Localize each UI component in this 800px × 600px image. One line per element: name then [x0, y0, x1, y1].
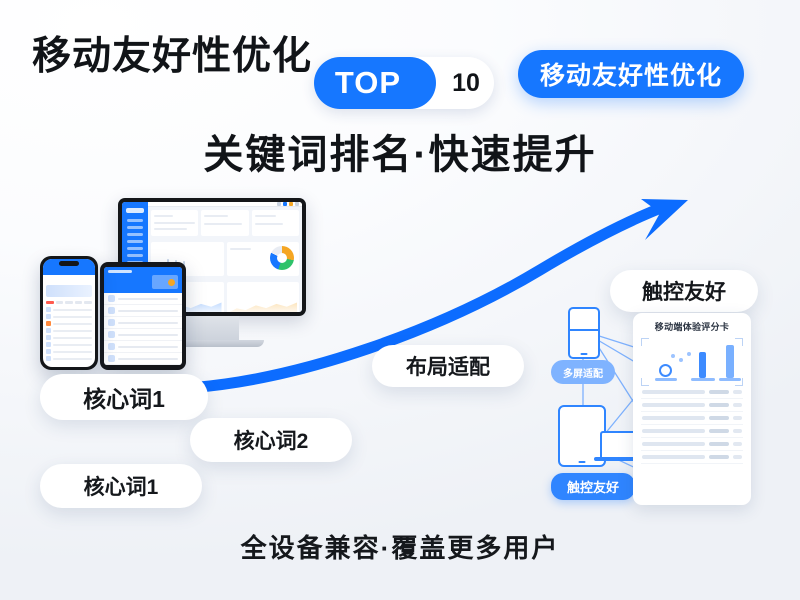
- page-title: 移动友好性优化: [32, 25, 312, 81]
- mini-pill-touch-friendly: 触控友好: [551, 473, 635, 500]
- phone-banner-card: [46, 285, 92, 297]
- list-item-icon: [46, 335, 51, 340]
- list-item: [43, 320, 95, 327]
- table-row: [641, 425, 743, 438]
- mini-diagram: 多屏适配 触控友好 移动端体验评分卡: [548, 305, 770, 510]
- list-item: [104, 341, 182, 353]
- table-row: [641, 386, 743, 399]
- footer-text: 全设备兼容·覆盖更多用户: [0, 528, 800, 565]
- list-item-icon: [46, 349, 51, 354]
- area-chart-icon: [229, 300, 298, 312]
- list-item-icon: [108, 355, 115, 362]
- list-item: [104, 305, 182, 317]
- device-mockup-group: [24, 190, 324, 380]
- keyword-pill-2[interactable]: 核心词2: [190, 418, 352, 462]
- keyword-pill-3[interactable]: 核心词1: [40, 464, 202, 508]
- tablet-mockup: [100, 262, 186, 370]
- list-item-icon: [46, 356, 51, 361]
- dashboard-nav-item: [127, 247, 143, 250]
- score-card-title: 移动端体验评分卡: [641, 320, 743, 333]
- phone-search-bar: [47, 277, 91, 283]
- list-item-icon: [46, 307, 51, 312]
- dashboard-row: [148, 207, 302, 239]
- list-item-icon: [46, 342, 51, 347]
- dashboard-nav-item: [127, 219, 143, 222]
- list-item-icon: [108, 307, 115, 314]
- list-item: [104, 293, 182, 305]
- list-item-icon: [46, 314, 51, 319]
- list-item-icon: [46, 328, 51, 333]
- tablet-promo-card: [152, 275, 178, 289]
- score-card-chart: [641, 338, 743, 386]
- dashboard-donut-card: [227, 242, 300, 276]
- dashboard-logo: [126, 208, 144, 213]
- list-item: [104, 329, 182, 341]
- list-item: [43, 348, 95, 355]
- toolbar-dot-icon: [295, 202, 299, 206]
- table-row: [641, 399, 743, 412]
- dashboard-area-card: [227, 282, 300, 312]
- dashboard-nav-item: [127, 233, 143, 236]
- dashboard-card: [252, 210, 299, 236]
- table-row: [641, 412, 743, 425]
- top-rank-badge-number: 10: [444, 61, 488, 105]
- idea-bulb-icon: [659, 364, 672, 377]
- header-tag-pill: 移动友好性优化: [518, 50, 744, 98]
- list-item: [43, 341, 95, 348]
- table-row: [641, 451, 743, 464]
- list-item-icon: [108, 295, 115, 302]
- list-item: [43, 306, 95, 313]
- toolbar-dot-icon: [283, 202, 287, 206]
- keyword-pill-1[interactable]: 核心词1: [40, 374, 208, 420]
- dashboard-card: [151, 210, 198, 236]
- donut-chart-icon: [270, 246, 294, 270]
- phone-tab-strip: [43, 299, 95, 306]
- score-card: 移动端体验评分卡: [633, 313, 751, 505]
- phone-mockup: [40, 256, 98, 370]
- phone-screen: [43, 259, 95, 367]
- toolbar-dot-icon: [277, 202, 281, 206]
- list-item: [43, 313, 95, 320]
- dashboard-nav-item: [127, 226, 143, 229]
- table-row: [641, 438, 743, 451]
- mini-pill-multi-screen: 多屏适配: [551, 360, 615, 384]
- list-item: [43, 327, 95, 334]
- top-rank-badge: TOP 10: [314, 57, 494, 109]
- dashboard-nav-item: [127, 240, 143, 243]
- list-item: [104, 317, 182, 329]
- list-item: [43, 355, 95, 362]
- list-item-icon: [108, 343, 115, 350]
- list-item: [43, 334, 95, 341]
- list-item: [104, 353, 182, 365]
- list-item-icon: [108, 331, 115, 338]
- poster-canvas: 移动友好性优化 TOP 10 移动友好性优化 关键词排名·快速提升: [0, 0, 800, 600]
- dashboard-nav-item: [127, 254, 143, 257]
- toolbar-dot-icon: [289, 202, 293, 206]
- page-subtitle: 关键词排名·快速提升: [0, 122, 800, 180]
- top-rank-badge-label: TOP: [314, 57, 436, 109]
- dashboard-card: [201, 210, 248, 236]
- phone-notch: [59, 261, 79, 266]
- tablet-search-bar: [108, 270, 132, 273]
- list-item-icon: [46, 321, 51, 326]
- list-item-icon: [108, 319, 115, 326]
- tablet-screen: [104, 267, 182, 365]
- mini-phone-small: [568, 307, 600, 359]
- layout-adapt-pill[interactable]: 布局适配: [372, 345, 524, 387]
- monitor-neck: [185, 316, 239, 340]
- tablet-hero-banner: [104, 267, 182, 293]
